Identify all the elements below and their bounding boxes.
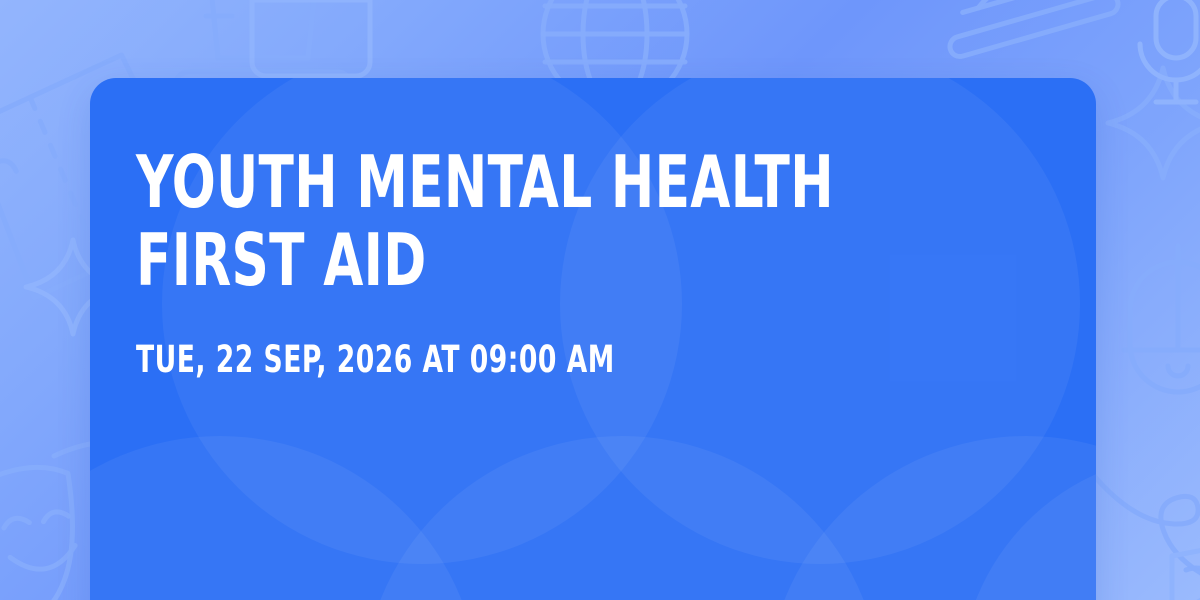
lantern-icon <box>1108 228 1200 398</box>
medal-icon <box>930 0 1130 90</box>
card-orb-decoration <box>362 436 882 600</box>
event-banner: Youth Mental Health First Aid Tue, 22 Se… <box>0 0 1200 600</box>
event-title: Youth Mental Health First Aid <box>136 144 859 300</box>
card-orb-decoration <box>90 436 480 600</box>
ribbon-icon <box>1090 452 1200 600</box>
event-date: Tue, 22 Sep, 2026 at 09:00 AM <box>136 338 859 381</box>
event-card-content: Youth Mental Health First Aid Tue, 22 Se… <box>136 144 1040 381</box>
card-orb-decoration <box>766 436 1096 600</box>
sparkle-icon <box>1098 58 1200 188</box>
music-note-icon <box>1132 540 1200 600</box>
microphone-icon <box>1118 0 1200 116</box>
card-orb-decoration <box>960 454 1096 600</box>
event-card[interactable]: Youth Mental Health First Aid Tue, 22 Se… <box>90 78 1096 600</box>
